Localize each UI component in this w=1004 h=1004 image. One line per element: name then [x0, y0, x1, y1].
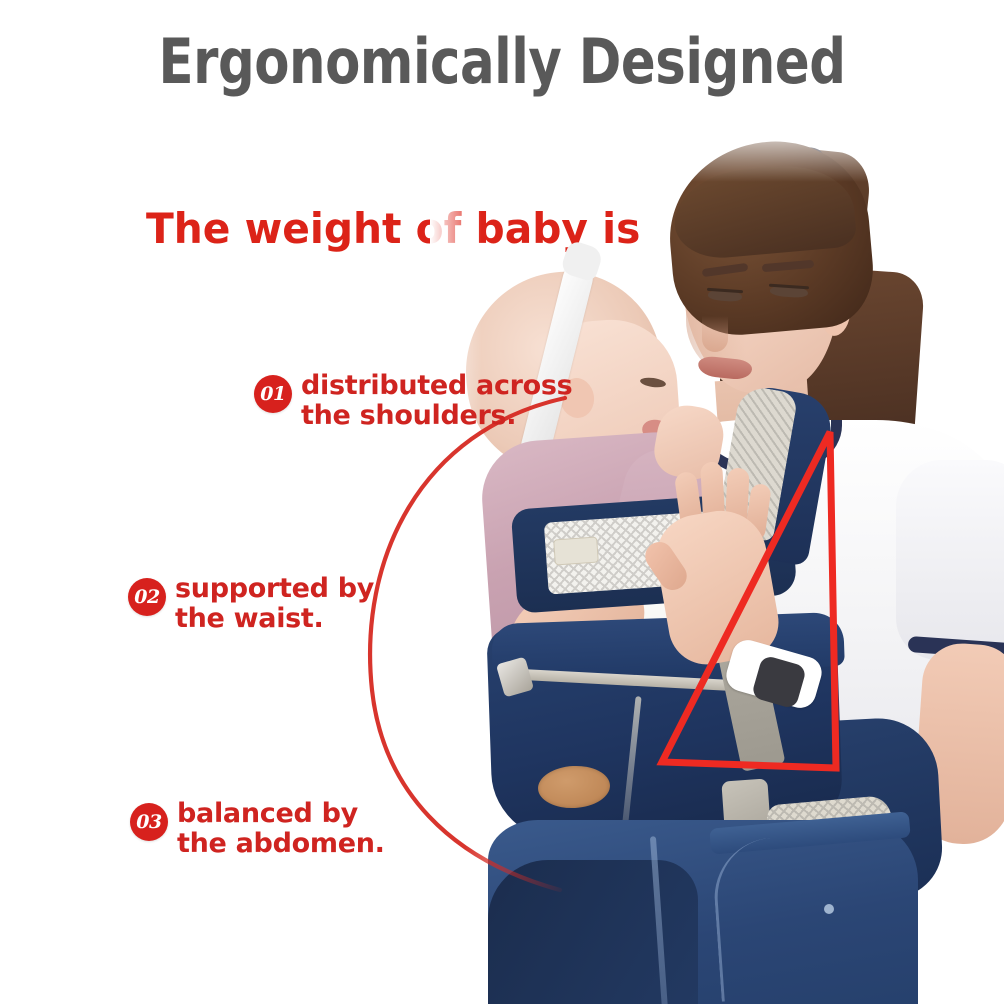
jeans-pocket	[711, 830, 892, 1001]
infographic-canvas: Ergonomically Designed The weight of bab…	[0, 0, 1004, 1004]
callout-02: 02 supported by the waist.	[128, 572, 374, 634]
callout-02-label: supported by the waist.	[175, 572, 374, 634]
jeans-rivet	[824, 904, 834, 914]
page-title: Ergonomically Designed	[40, 26, 964, 98]
callout-01-label: distributed across the shoulders.	[301, 369, 572, 431]
nose	[702, 316, 728, 352]
callout-02-badge: 02	[128, 578, 166, 616]
callout-03-label: balanced by the abdomen.	[177, 797, 385, 859]
callout-03: 03 balanced by the abdomen.	[130, 797, 385, 859]
tshirt-sleeve	[896, 460, 1004, 660]
carrier-brand-label	[553, 536, 599, 565]
product-photo	[430, 120, 1004, 1004]
jeans-shadow	[488, 860, 698, 1004]
callout-01: 01 distributed across the shoulders.	[254, 369, 572, 431]
callout-01-badge: 01	[254, 375, 292, 413]
callout-03-badge: 03	[130, 803, 168, 841]
